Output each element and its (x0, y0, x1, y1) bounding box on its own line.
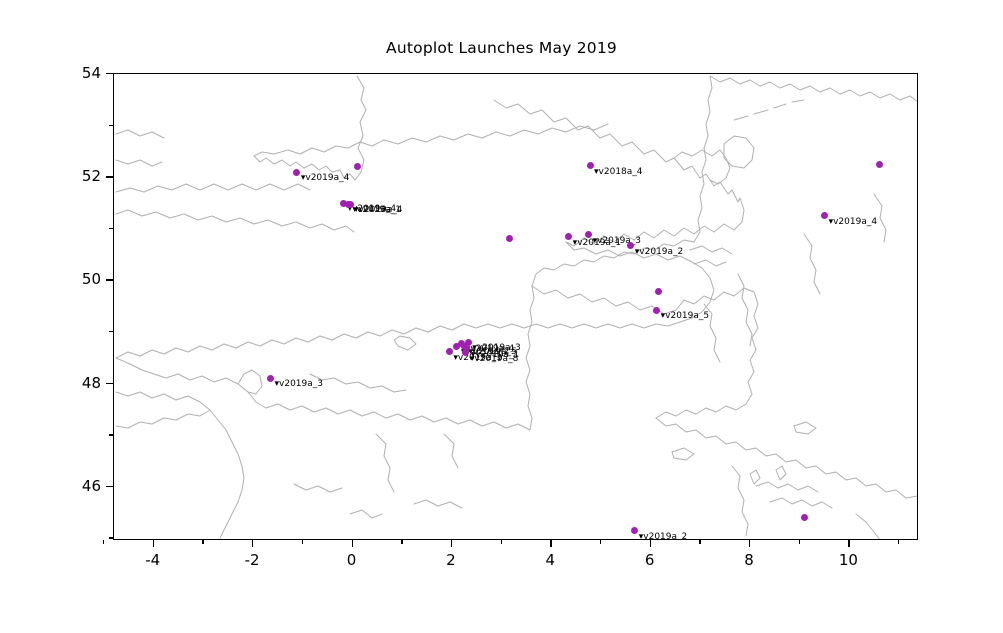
x-axis-tick (650, 540, 651, 547)
x-axis-tick (252, 540, 253, 547)
data-point-label: ▾v2019a_5 (661, 312, 710, 321)
data-point-label: ▾v2018a_4 (594, 168, 643, 177)
data-point[interactable] (293, 169, 300, 176)
y-axis-tick (106, 383, 113, 384)
x-axis-minor-tick (799, 540, 800, 544)
y-axis-tick-label: 52 (65, 167, 101, 185)
x-axis-minor-tick (103, 540, 104, 544)
data-point[interactable] (587, 162, 594, 169)
data-point[interactable] (627, 242, 634, 249)
data-point[interactable] (655, 288, 662, 295)
data-point-label: ▾v2019a_4 (829, 218, 878, 227)
x-axis-minor-tick (699, 540, 700, 544)
x-axis-tick (749, 540, 750, 547)
y-axis-tick-label: 46 (65, 477, 101, 495)
data-point-label: ▾v2019a_3 (275, 380, 324, 389)
x-axis-tick-label: 10 (839, 551, 858, 569)
data-point[interactable] (876, 161, 883, 168)
y-axis-tick-label: 50 (65, 270, 101, 288)
x-axis-tick (153, 540, 154, 547)
x-axis-minor-tick (302, 540, 303, 544)
data-point[interactable] (565, 233, 572, 240)
y-axis-tick (106, 73, 113, 74)
data-points-layer: ▾v2019a_4▾v2019a_4▾v2019a_1▾v2019a_4▾v20… (114, 74, 918, 540)
x-axis-tick-label: 4 (546, 551, 556, 569)
plot-area[interactable]: ▾v2019a_4▾v2019a_4▾v2019a_1▾v2019a_4▾v20… (113, 73, 918, 540)
x-axis-tick-label: 8 (744, 551, 754, 569)
y-axis-tick-label: 48 (65, 374, 101, 392)
y-axis-minor-tick (109, 228, 113, 229)
y-axis-tick-label: 54 (65, 64, 101, 82)
x-axis-tick-label: 6 (645, 551, 655, 569)
x-axis-tick (848, 540, 849, 547)
x-axis-minor-tick (202, 540, 203, 544)
x-axis-tick (550, 540, 551, 547)
y-axis-minor-tick (109, 331, 113, 332)
data-point[interactable] (347, 201, 354, 208)
x-axis-minor-tick (600, 540, 601, 544)
data-point[interactable] (446, 348, 453, 355)
data-point-label: ▾v2019a_4 (301, 174, 350, 183)
x-axis-tick (451, 540, 452, 547)
figure-canvas: Autoplot Launches May 2019 (0, 0, 1003, 633)
data-point[interactable] (631, 527, 638, 534)
data-point-label: ▾v2019a_2 (639, 533, 688, 540)
data-point[interactable] (267, 375, 274, 382)
y-axis-tick (106, 176, 113, 177)
page-title: Autoplot Launches May 2019 (0, 39, 1003, 57)
data-point[interactable] (354, 163, 361, 170)
data-point[interactable] (506, 235, 513, 242)
y-axis-tick (106, 279, 113, 280)
data-point-label: ▾v2019a_2 (635, 248, 684, 257)
y-axis-minor-tick (109, 434, 113, 435)
data-point[interactable] (821, 212, 828, 219)
y-axis-tick (106, 486, 113, 487)
x-axis-tick-label: -2 (245, 551, 260, 569)
data-point-label: ▾v2019a_8 (470, 355, 519, 364)
data-point[interactable] (465, 339, 472, 346)
y-axis-minor-tick (109, 125, 113, 126)
x-axis-minor-tick (501, 540, 502, 544)
data-point-label: ▾v2019a_3 (472, 344, 521, 353)
x-axis-tick (352, 540, 353, 547)
data-point-label: ▾v2019a_4 (354, 206, 403, 215)
x-axis-minor-tick (401, 540, 402, 544)
x-axis-minor-tick (898, 540, 899, 544)
y-axis-minor-tick (109, 537, 113, 538)
x-axis-tick-label: -4 (145, 551, 160, 569)
x-axis-tick-label: 2 (446, 551, 456, 569)
data-point[interactable] (653, 307, 660, 314)
x-axis-tick-label: 0 (347, 551, 357, 569)
data-point[interactable] (801, 514, 808, 521)
